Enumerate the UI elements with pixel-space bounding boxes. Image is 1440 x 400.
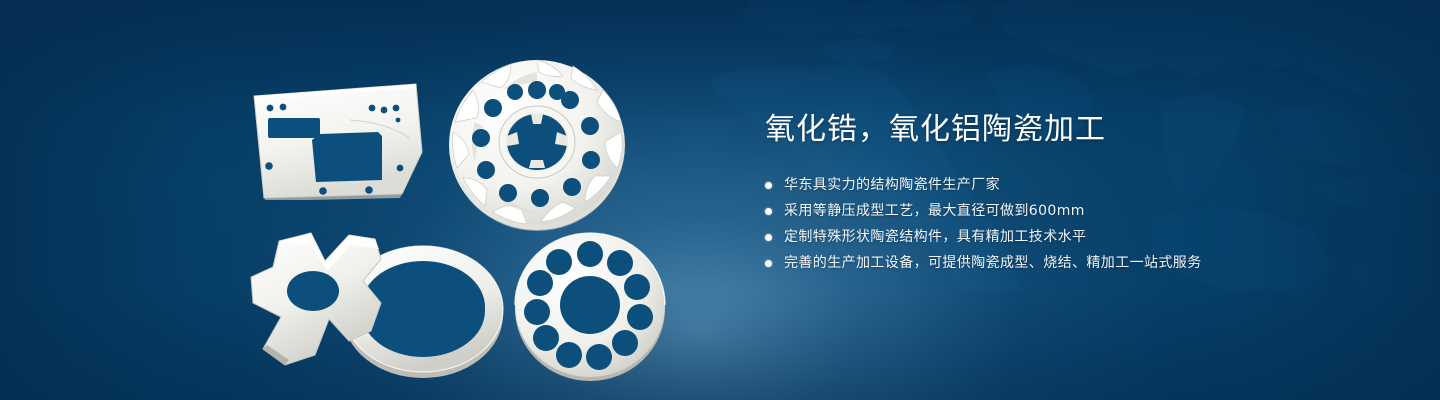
bullet-label: 定制特殊形状陶瓷结构件，具有精加工技术水平	[784, 226, 1086, 248]
ceramic-impeller-image	[445, 50, 630, 235]
banner-bullet-list: 华东具实力的结构陶瓷件生产厂家 采用等静压成型工艺，最大直径可做到600mm 定…	[765, 174, 1385, 274]
bullet-dot-icon	[765, 208, 772, 215]
bullet-dot-icon	[765, 260, 772, 267]
product-image-cluster	[240, 45, 700, 385]
bullet-item: 完善的生产加工设备，可提供陶瓷成型、烧结、精加工一站式服务	[765, 252, 1385, 274]
ceramic-plate-body	[254, 84, 422, 200]
bullet-item: 定制特殊形状陶瓷结构件，具有精加工技术水平	[765, 226, 1385, 248]
bullet-label: 华东具实力的结构陶瓷件生产厂家	[784, 174, 1000, 196]
impeller-body	[449, 60, 625, 231]
bullet-dot-icon	[765, 234, 772, 241]
bullet-item: 华东具实力的结构陶瓷件生产厂家	[765, 174, 1385, 196]
banner-copy: 氧化锆，氧化铝陶瓷加工 华东具实力的结构陶瓷件生产厂家 采用等静压成型工艺，最大…	[765, 112, 1385, 278]
ceramic-plate-image	[250, 80, 430, 200]
impeller-hub	[499, 106, 575, 178]
bullet-item: 采用等静压成型工艺，最大直径可做到600mm	[765, 200, 1385, 222]
bullet-dot-icon	[765, 182, 772, 189]
banner-headline: 氧化锆，氧化铝陶瓷加工	[765, 112, 1385, 148]
bullet-label: 采用等静压成型工艺，最大直径可做到600mm	[784, 200, 1085, 222]
ceramic-cross-and-ring-image	[245, 225, 510, 385]
hero-banner: 氧化锆，氧化铝陶瓷加工 华东具实力的结构陶瓷件生产厂家 采用等静压成型工艺，最大…	[0, 0, 1440, 400]
bullet-label: 完善的生产加工设备，可提供陶瓷成型、烧结、精加工一站式服务	[784, 252, 1202, 274]
ceramic-perforated-disc-image	[510, 225, 670, 385]
perforated-disc-body	[515, 233, 665, 381]
